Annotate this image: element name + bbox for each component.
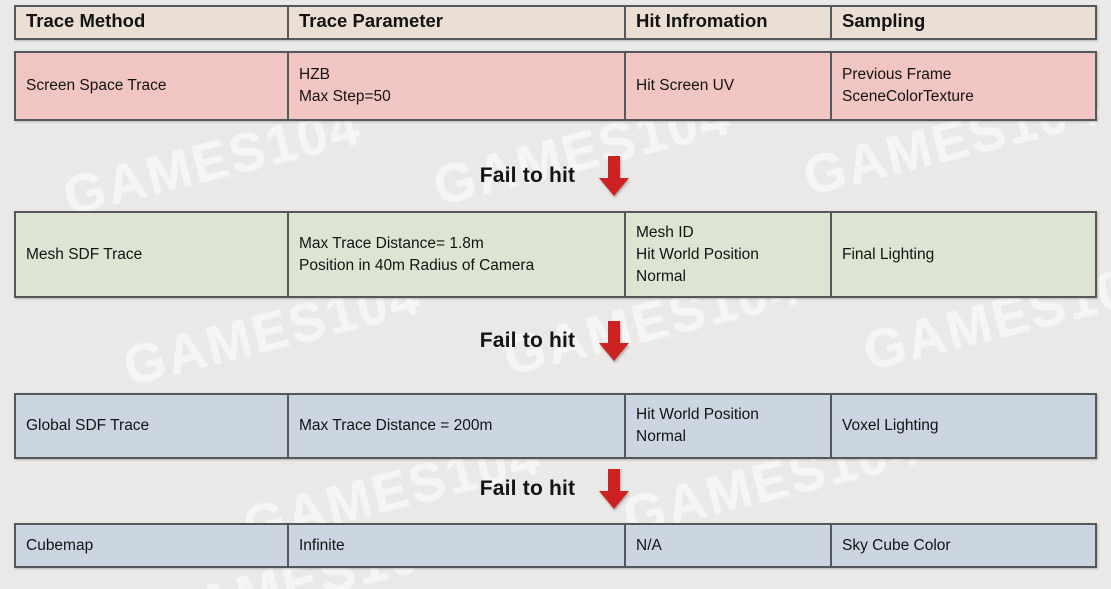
cell-sampling: Final Lighting [832, 213, 1095, 296]
cell-trace-method: Cubemap [16, 525, 289, 566]
cell-hit-information: Hit World Position Normal [626, 395, 832, 457]
cell-text: Voxel Lighting [842, 415, 1085, 437]
cell-text: Max Trace Distance = 200m [299, 415, 614, 437]
table-row: Screen Space Trace HZB Max Step=50 Hit S… [14, 51, 1097, 121]
cell-text: Max Step=50 [299, 86, 614, 108]
cell-trace-method: Global SDF Trace [16, 395, 289, 457]
column-header-hit-information: Hit Infromation [626, 7, 832, 38]
down-arrow-icon [597, 154, 631, 198]
cell-trace-parameter: Infinite [289, 525, 626, 566]
cell-text: Global SDF Trace [26, 415, 277, 437]
connector-fail-to-hit-3: Fail to hit [0, 463, 1111, 515]
down-arrow-icon [597, 467, 631, 511]
cell-hit-information: N/A [626, 525, 832, 566]
cell-text: Mesh ID [636, 222, 820, 244]
cell-text: Hit World Position [636, 244, 820, 266]
cell-sampling: Sky Cube Color [832, 525, 1095, 566]
cell-text: Infinite [299, 535, 614, 557]
table-header-row: Trace Method Trace Parameter Hit Infroma… [14, 5, 1097, 40]
cell-text: Final Lighting [842, 244, 1085, 266]
cell-text: N/A [636, 535, 820, 557]
down-arrow-icon [597, 319, 631, 363]
cell-text: HZB [299, 64, 614, 86]
column-header-trace-method: Trace Method [16, 7, 289, 38]
cell-trace-parameter: HZB Max Step=50 [289, 53, 626, 119]
table-row: Mesh SDF Trace Max Trace Distance= 1.8m … [14, 211, 1097, 298]
cell-trace-method: Screen Space Trace [16, 53, 289, 119]
cell-text: Sky Cube Color [842, 535, 1085, 557]
cell-text: SceneColorTexture [842, 86, 1085, 108]
cell-text: Position in 40m Radius of Camera [299, 255, 614, 277]
cell-trace-parameter: Max Trace Distance= 1.8m Position in 40m… [289, 213, 626, 296]
cell-sampling: Previous Frame SceneColorTexture [832, 53, 1095, 119]
cell-text: Normal [636, 266, 820, 288]
cell-text: Cubemap [26, 535, 277, 557]
cell-hit-information: Hit Screen UV [626, 53, 832, 119]
column-header-label: Sampling [842, 8, 1085, 34]
column-header-label: Trace Parameter [299, 8, 614, 34]
cell-sampling: Voxel Lighting [832, 395, 1095, 457]
connector-label: Fail to hit [480, 477, 576, 501]
column-header-trace-parameter: Trace Parameter [289, 7, 626, 38]
connector-fail-to-hit-1: Fail to hit [0, 150, 1111, 202]
cell-text: Normal [636, 426, 820, 448]
cell-trace-parameter: Max Trace Distance = 200m [289, 395, 626, 457]
column-header-sampling: Sampling [832, 7, 1095, 38]
connector-label: Fail to hit [480, 329, 576, 353]
cell-text: Hit World Position [636, 404, 820, 426]
cell-trace-method: Mesh SDF Trace [16, 213, 289, 296]
table-row: Global SDF Trace Max Trace Distance = 20… [14, 393, 1097, 459]
connector-label: Fail to hit [480, 164, 576, 188]
cell-text: Max Trace Distance= 1.8m [299, 233, 614, 255]
column-header-label: Hit Infromation [636, 8, 820, 34]
cell-text: Mesh SDF Trace [26, 244, 277, 266]
cell-text: Screen Space Trace [26, 75, 277, 97]
cell-text: Hit Screen UV [636, 75, 820, 97]
cell-hit-information: Mesh ID Hit World Position Normal [626, 213, 832, 296]
table-row: Cubemap Infinite N/A Sky Cube Color [14, 523, 1097, 568]
connector-fail-to-hit-2: Fail to hit [0, 315, 1111, 367]
trace-fallback-table-diagram: Trace Method Trace Parameter Hit Infroma… [0, 0, 1111, 589]
cell-text: Previous Frame [842, 64, 1085, 86]
column-header-label: Trace Method [26, 8, 277, 34]
